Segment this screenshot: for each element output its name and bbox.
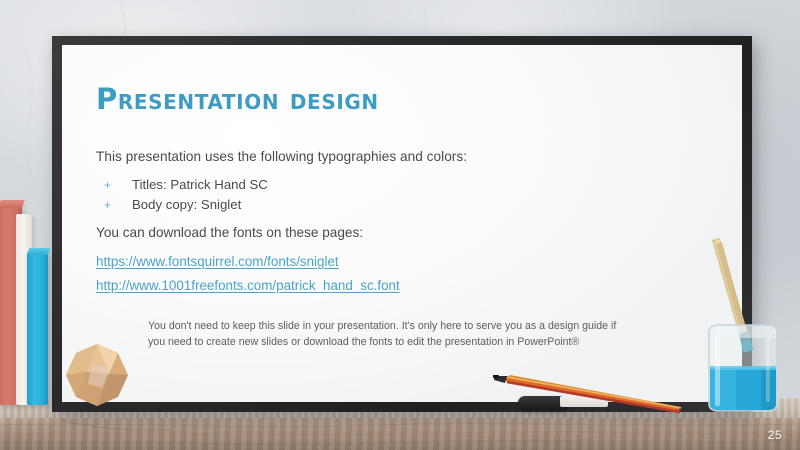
designer-note: You don't need to keep this slide in you… [96, 297, 618, 350]
book-blue-top-edge [27, 248, 50, 255]
page-number: 25 [768, 428, 782, 442]
list-item: + Titles: Patrick Hand SC [96, 174, 722, 194]
lead-paragraph: This presentation uses the following typ… [96, 114, 722, 164]
plus-bullet-icon: + [96, 198, 132, 212]
typography-list: + Titles: Patrick Hand SC + Body copy: S… [96, 164, 722, 214]
whiteboard-frame: Presentation design This presentation us… [52, 36, 752, 412]
font-links: https://www.fontsquirrel.com/fonts/snigl… [96, 240, 722, 297]
plus-bullet-icon: + [96, 178, 132, 192]
desk-wood-grain [0, 418, 800, 450]
slide-content: Presentation design This presentation us… [96, 57, 722, 392]
list-item-label: Titles: Patrick Hand SC [132, 177, 268, 192]
wooden-polyhedron [66, 344, 128, 406]
book-red-top-edge [0, 200, 25, 208]
link-fontsquirrel[interactable]: https://www.fontsquirrel.com/fonts/snigl… [96, 249, 722, 273]
list-item-label: Body copy: Sniglet [132, 197, 241, 212]
presentation-slide: Presentation design This presentation us… [0, 0, 800, 450]
striped-pencil [493, 374, 693, 414]
download-instruction: You can download the fonts on these page… [96, 214, 722, 240]
book-blue [27, 252, 48, 405]
list-item: + Body copy: Sniglet [96, 194, 722, 214]
link-1001freefonts[interactable]: http://www.1001freefonts.com/patrick_han… [96, 273, 722, 297]
glass-jar [706, 318, 780, 412]
page-title: Presentation design [96, 57, 722, 114]
whiteboard-surface: Presentation design This presentation us… [62, 45, 742, 402]
